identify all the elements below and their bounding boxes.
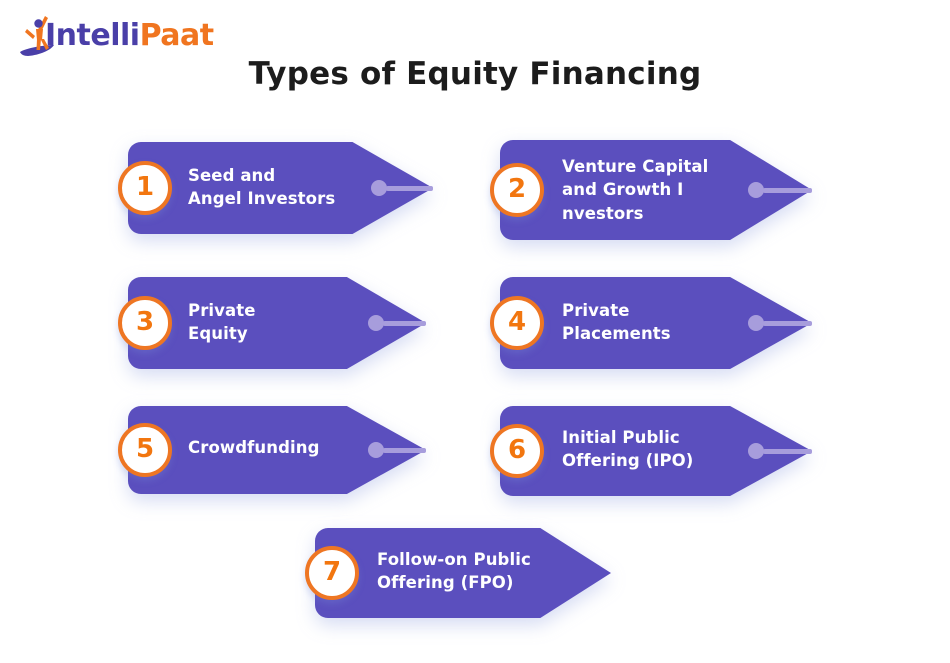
list-item[interactable]: 3 Private Equity: [128, 277, 426, 369]
connector-rail: [383, 448, 426, 453]
item-number-badge: 5: [118, 423, 172, 477]
connector-rail: [763, 321, 812, 326]
item-number: 1: [136, 174, 154, 200]
item-number: 6: [508, 437, 526, 463]
connector-rail: [383, 321, 426, 326]
connector-line: [371, 180, 433, 196]
connector-line: [368, 315, 426, 331]
item-label: Private Placements: [562, 299, 671, 346]
list-item[interactable]: 7 Follow-on Public Offering (FPO): [315, 528, 611, 618]
connector-dot: [748, 443, 764, 459]
list-item[interactable]: 2 Venture Capital and Growth I nvestors: [500, 140, 812, 240]
connector-rail: [763, 449, 812, 454]
connector-line: [748, 315, 812, 331]
item-label: Initial Public Offering (IPO): [562, 426, 693, 473]
item-number: 2: [508, 176, 526, 202]
item-number-badge: 7: [305, 546, 359, 600]
item-label: Venture Capital and Growth I nvestors: [562, 155, 708, 225]
item-number-badge: 1: [118, 161, 172, 215]
connector-dot: [748, 315, 764, 331]
list-item[interactable]: 5 Crowdfunding: [128, 406, 426, 494]
item-label: Crowdfunding: [188, 436, 320, 459]
brand-wordmark: IntelliPaat: [45, 21, 214, 51]
item-label: Private Equity: [188, 299, 256, 346]
connector-dot: [371, 180, 387, 196]
connector-dot: [368, 315, 384, 331]
connector-line: [368, 442, 426, 458]
connector-rail: [386, 186, 433, 191]
item-number-badge: 4: [490, 296, 544, 350]
connector-dot: [368, 442, 384, 458]
infographic-canvas: IntelliPaat Types of Equity Financing 1 …: [0, 0, 950, 663]
brand-name-part1: Intelli: [45, 18, 140, 53]
item-number: 4: [508, 309, 526, 335]
item-number-badge: 6: [490, 424, 544, 478]
brand-logo[interactable]: IntelliPaat: [18, 10, 233, 62]
item-label: Follow-on Public Offering (FPO): [377, 548, 531, 595]
list-item[interactable]: 6 Initial Public Offering (IPO): [500, 406, 812, 496]
item-number-badge: 3: [118, 296, 172, 350]
connector-line: [748, 443, 812, 459]
brand-name-part2: Paat: [140, 18, 214, 53]
item-number: 7: [323, 559, 341, 585]
connector-dot: [748, 182, 764, 198]
page-title: Types of Equity Financing: [0, 56, 950, 92]
item-label: Seed and Angel Investors: [188, 164, 335, 211]
list-item[interactable]: 1 Seed and Angel Investors: [128, 142, 433, 234]
connector-line: [748, 182, 812, 198]
connector-rail: [763, 188, 812, 193]
list-item[interactable]: 4 Private Placements: [500, 277, 812, 369]
item-number: 5: [136, 436, 154, 462]
item-number: 3: [136, 309, 154, 335]
item-number-badge: 2: [490, 163, 544, 217]
